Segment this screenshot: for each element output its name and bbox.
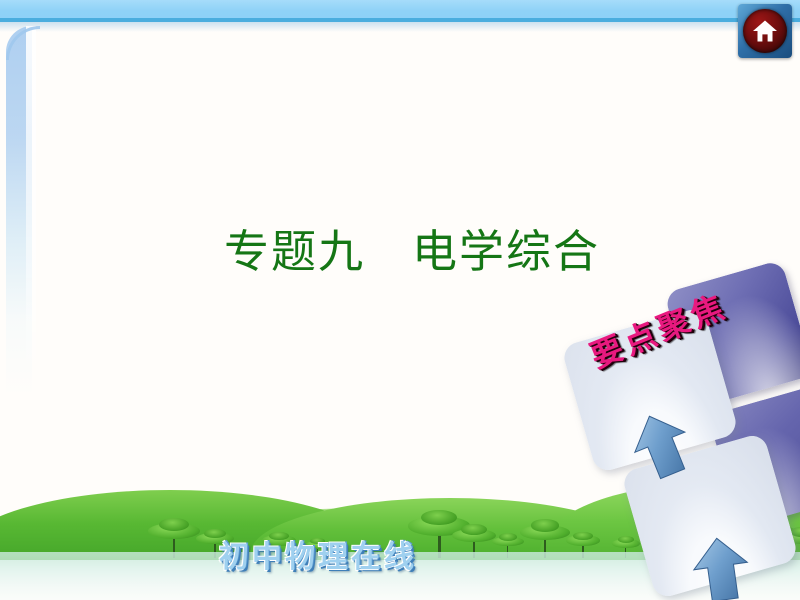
tree-canopy-top xyxy=(159,518,189,531)
home-button[interactable] xyxy=(738,4,792,58)
watermark-text: 初中物理在线 xyxy=(219,541,417,575)
tree-canopy-top xyxy=(269,532,289,541)
home-button-disc xyxy=(743,9,787,53)
top-banner-shadow xyxy=(0,22,800,32)
slide-canvas: 专题九 电学综合 初中物理在线 xyxy=(0,0,800,600)
page-title: 专题九 电学综合 xyxy=(224,226,600,278)
tree-canopy-top xyxy=(461,524,486,535)
top-banner xyxy=(0,0,800,18)
home-icon xyxy=(752,19,778,43)
focus-graphic: 要点聚焦 xyxy=(570,272,800,582)
up-arrow-lower xyxy=(688,532,755,600)
arrow-up-icon xyxy=(688,532,755,600)
left-border-highlight xyxy=(26,26,36,386)
tree-canopy-top xyxy=(204,529,226,539)
tree-canopy-top xyxy=(531,519,560,532)
